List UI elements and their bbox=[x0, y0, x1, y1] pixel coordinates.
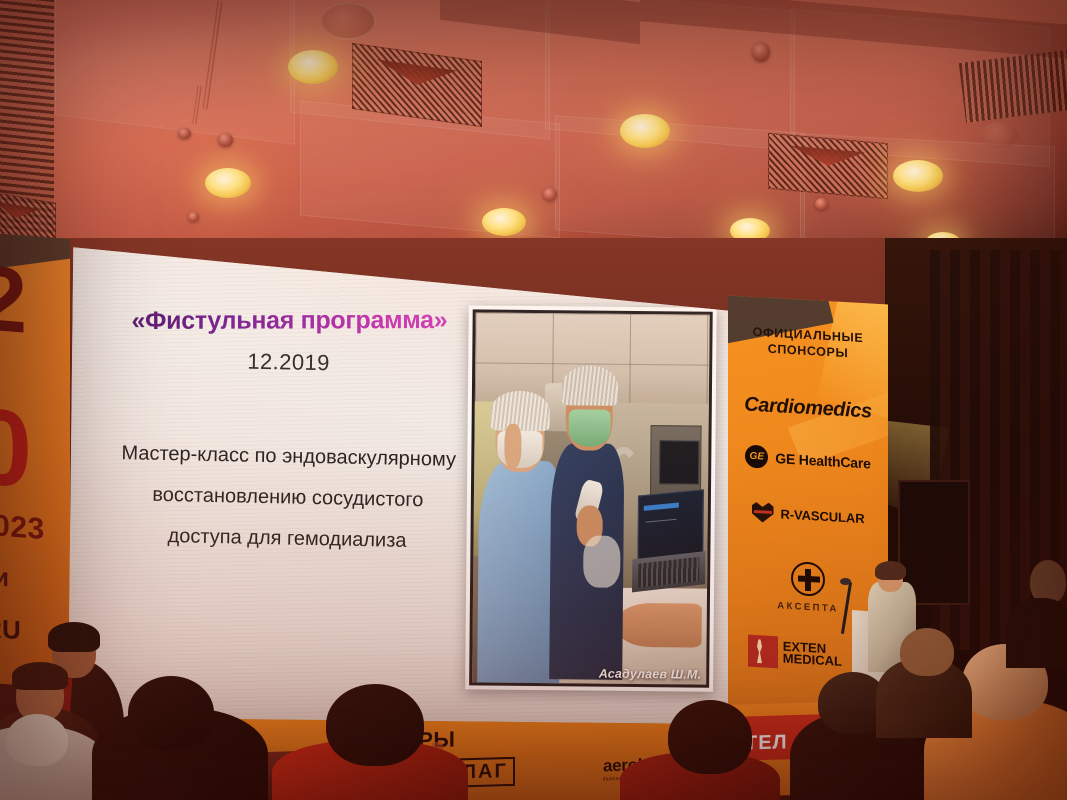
sponsor-label-rvascular: R-VASCULAR bbox=[781, 506, 865, 526]
doctor-right-face-mask bbox=[568, 410, 610, 447]
smoke-detector bbox=[543, 188, 557, 201]
smoke-detector bbox=[188, 212, 199, 222]
slide-title: «Фистульная программа» bbox=[114, 306, 464, 336]
ceiling-panel bbox=[55, 0, 295, 145]
audience4-head bbox=[668, 700, 752, 774]
ge-monogram-icon: GE bbox=[745, 444, 768, 468]
figure-square-icon bbox=[748, 635, 778, 669]
slide-photo-operating-room: Асадулаев Ш.М. bbox=[469, 309, 713, 687]
projection-screen: «Фистульная программа» 12.2019 Мастер-кл… bbox=[68, 240, 728, 724]
slide: «Фистульная программа» 12.2019 Мастер-кл… bbox=[58, 240, 728, 737]
conference-hall-scene: 2 0 2023 чи .RU ОФИЦИАЛЬНЫЕ СПОНСОРЫ Car… bbox=[0, 0, 1067, 800]
smoke-detector bbox=[752, 42, 770, 62]
slide-body-line-3: доступа для гемодиализа bbox=[92, 515, 483, 564]
heart-icon bbox=[752, 502, 774, 523]
left-event-banner: 2 0 2023 чи .RU bbox=[0, 233, 70, 689]
ceiling-speaker-grille bbox=[980, 122, 1018, 148]
audience2-head bbox=[128, 676, 214, 750]
banner-glyph-top: 2 bbox=[0, 252, 27, 348]
cross-circle-icon bbox=[791, 561, 825, 597]
doctor-right-surgical-cap bbox=[561, 365, 618, 406]
slide-body: Мастер-класс по эндоваскулярному восстан… bbox=[92, 433, 484, 564]
podium-microphone bbox=[840, 578, 851, 585]
sponsor-label-ge: GE HealthCare bbox=[775, 450, 870, 471]
ceiling-speaker-grille bbox=[320, 2, 376, 40]
banner-glyph-mid: 0 bbox=[0, 391, 32, 504]
banner-city: чи bbox=[0, 562, 9, 590]
ceiling-downlight bbox=[482, 208, 526, 236]
doctor-left-surgical-cap bbox=[491, 390, 550, 431]
vitals-monitor bbox=[659, 440, 699, 485]
ceiling-downlight bbox=[288, 50, 338, 84]
doctor-left-body bbox=[477, 460, 561, 683]
banner-year: 2023 bbox=[0, 510, 45, 545]
hvac-diffuser bbox=[768, 133, 888, 199]
audience3-head bbox=[326, 684, 424, 766]
ceiling-downlight bbox=[205, 168, 251, 198]
audience1-head bbox=[6, 714, 68, 766]
banner-domain: .RU bbox=[0, 614, 21, 644]
slide-date: 12.2019 bbox=[113, 346, 463, 379]
smoke-detector bbox=[178, 128, 191, 139]
audience7-head bbox=[900, 628, 954, 676]
smoke-detector bbox=[218, 133, 233, 147]
smoke-detector bbox=[815, 198, 828, 210]
panelist2-hair bbox=[12, 662, 68, 690]
sponsor-logo-r-vascular: R-VASCULAR bbox=[728, 501, 888, 530]
doctor-left-hand bbox=[505, 424, 522, 469]
speaker-hair bbox=[875, 561, 906, 580]
patient-arm bbox=[618, 602, 703, 647]
slide-body-line-2: восстановлению сосудистого bbox=[92, 474, 483, 523]
sponsor-logo-ge-healthcare: GE GE HealthCare bbox=[728, 444, 888, 476]
panelist-hair bbox=[48, 622, 100, 652]
sponsor-logo-akcepta: АКСЕПТА bbox=[728, 558, 888, 601]
ceiling bbox=[0, 0, 1067, 250]
ceiling-downlight bbox=[620, 114, 670, 148]
audience8-shoulders bbox=[1006, 598, 1067, 668]
sterile-glove-wrap bbox=[583, 535, 621, 587]
slide-photo-frame: Асадулаев Ш.М. bbox=[465, 305, 717, 691]
photo-caption: Асадулаев Ш.М. bbox=[599, 667, 702, 682]
ceiling-downlight bbox=[893, 160, 943, 192]
